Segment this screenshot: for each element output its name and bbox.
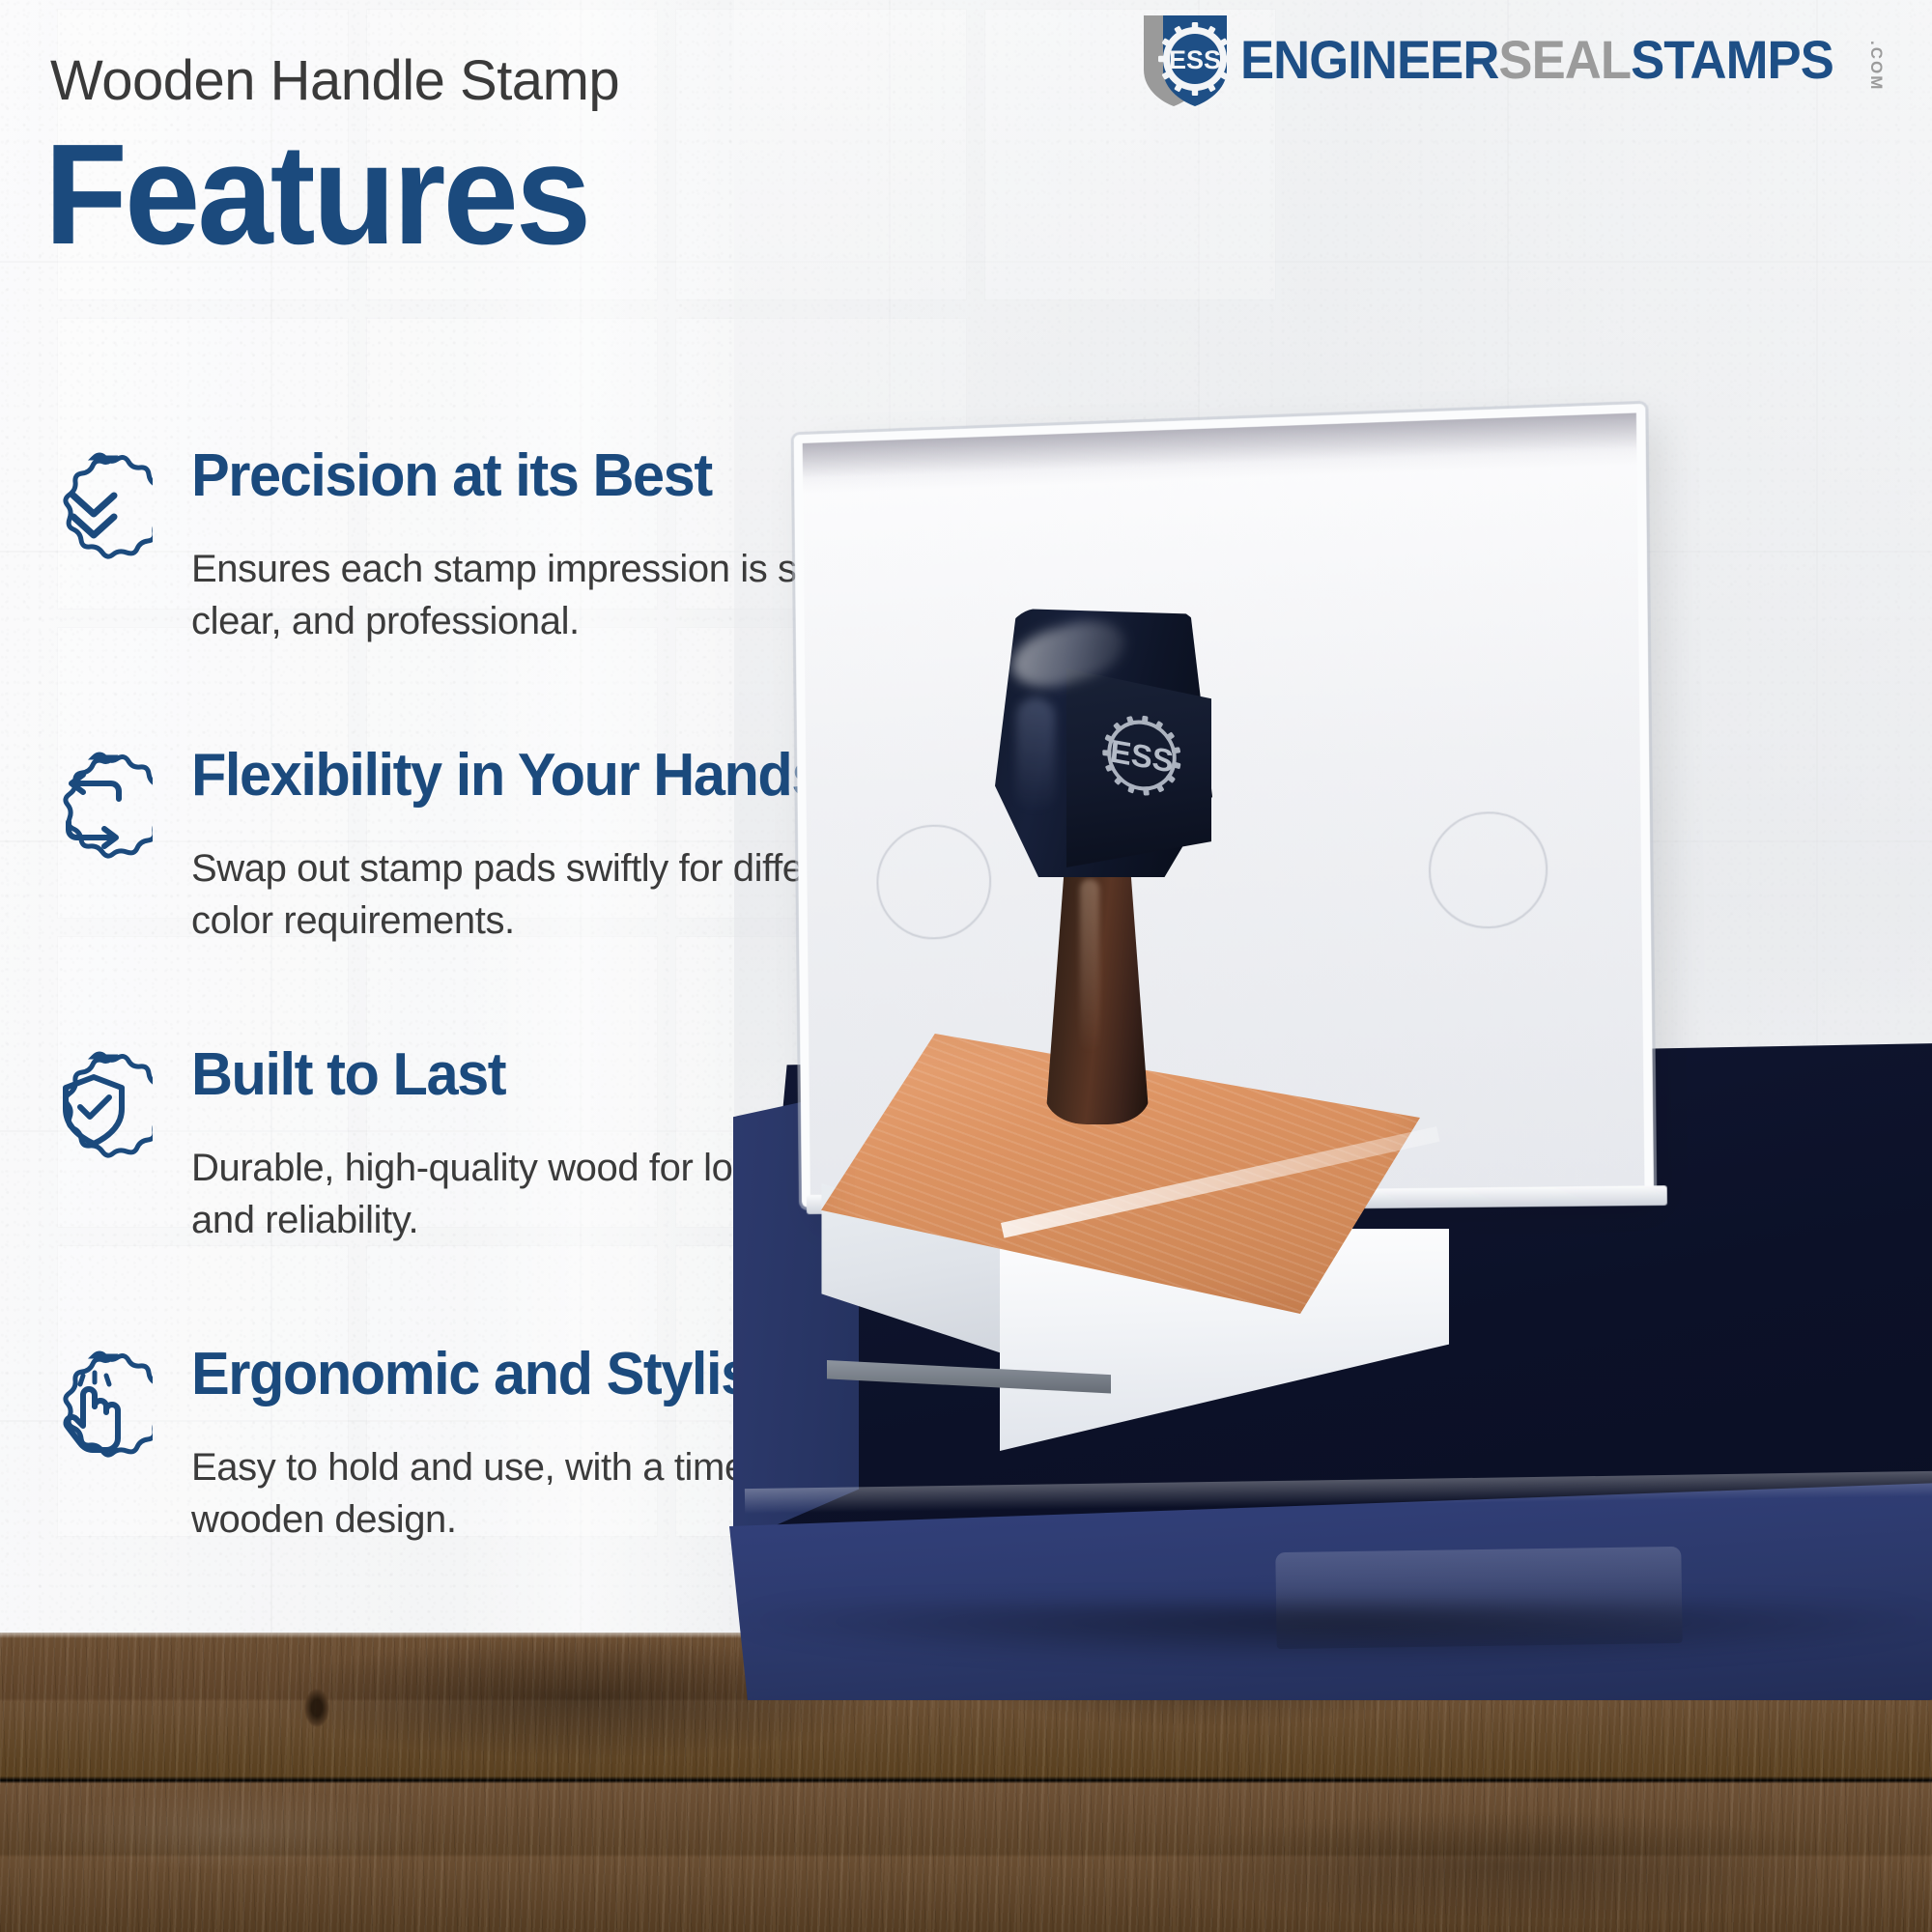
- feature-title: Flexibility in Your Hands: [191, 742, 822, 809]
- lid-dimple-left: [876, 823, 992, 940]
- brand-wordmark: ENGINEERSEALSTAMPS: [1240, 33, 1833, 87]
- feature-title: Built to Last: [191, 1041, 505, 1108]
- ess-mark-text: ESS: [1169, 45, 1221, 74]
- lid-dimple-right: [1428, 810, 1548, 929]
- wordmark-engineer: ENGINEER: [1240, 29, 1498, 90]
- wordmark-seal: SEAL: [1498, 29, 1631, 90]
- stamp-handle-knob: ESS: [995, 609, 1212, 877]
- chevron-double-down-badge-icon: [35, 452, 153, 570]
- page-subtitle: Wooden Handle Stamp: [50, 48, 920, 113]
- page-title: Features: [44, 124, 588, 267]
- wood-knot: [304, 1689, 329, 1727]
- infographic-canvas: Wooden Handle Stamp Features: [0, 0, 1932, 1932]
- wooden-stamp: ESS: [821, 1034, 1459, 1449]
- feature-title: Ergonomic and Stylish: [191, 1341, 785, 1407]
- shield-check-badge-icon: [35, 1051, 153, 1169]
- box-drop-shadow: [734, 1604, 1932, 1662]
- tap-hand-badge-icon: [35, 1350, 153, 1468]
- swap-arrows-badge-icon: [35, 752, 153, 869]
- lid-inner-shadow: [803, 412, 1637, 493]
- wordmark-tld: .COM: [1868, 41, 1885, 91]
- knob-ess-gear-icon: ESS: [1084, 692, 1200, 818]
- ess-shield-gear-icon: ESS: [1138, 14, 1235, 106]
- feature-title: Precision at its Best: [191, 442, 712, 509]
- brand-logo[interactable]: ESS ENGINEERSEALSTAMPS .COM: [1138, 14, 1911, 106]
- knob-side-highlight: [1016, 697, 1055, 813]
- product-photo: ESS: [908, 415, 1932, 1700]
- knob-ess-text: ESS: [1109, 733, 1175, 780]
- wordmark-stamps: STAMPS: [1631, 29, 1833, 90]
- stamp-handle-stem-highlight: [1080, 879, 1099, 1053]
